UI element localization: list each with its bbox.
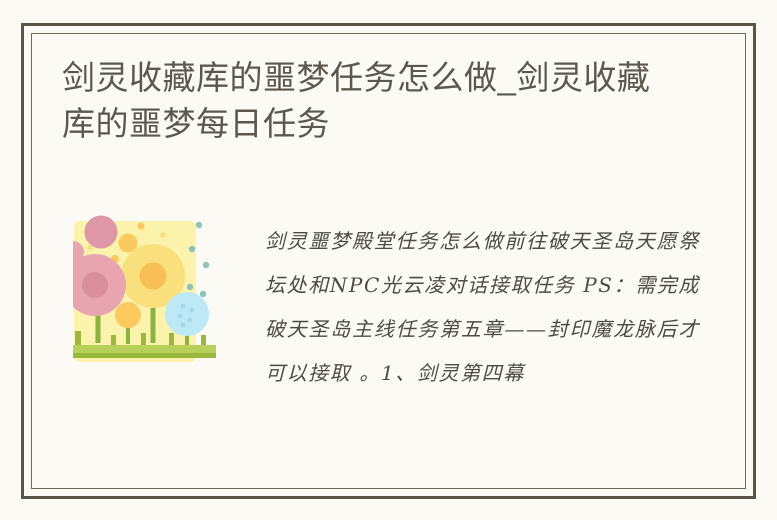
flower-field-icon bbox=[73, 213, 220, 363]
page-title: 剑灵收藏库的噩梦任务怎么做_剑灵收藏库的噩梦每日任务 bbox=[62, 55, 662, 147]
article-frame-outer: 剑灵收藏库的噩梦任务怎么做_剑灵收藏库的噩梦每日任务 bbox=[21, 23, 756, 499]
article-excerpt: 剑灵噩梦殿堂任务怎么做前往破天圣岛天愿祭坛处和NPC光云凌对话接取任务 PS：需… bbox=[265, 219, 700, 395]
article-frame-inner: 剑灵收藏库的噩梦任务怎么做_剑灵收藏库的噩梦每日任务 bbox=[31, 33, 746, 489]
article-content-row: 剑灵噩梦殿堂任务怎么做前往破天圣岛天愿祭坛处和NPC光云凌对话接取任务 PS：需… bbox=[62, 199, 727, 478]
article-thumbnail bbox=[73, 213, 220, 363]
